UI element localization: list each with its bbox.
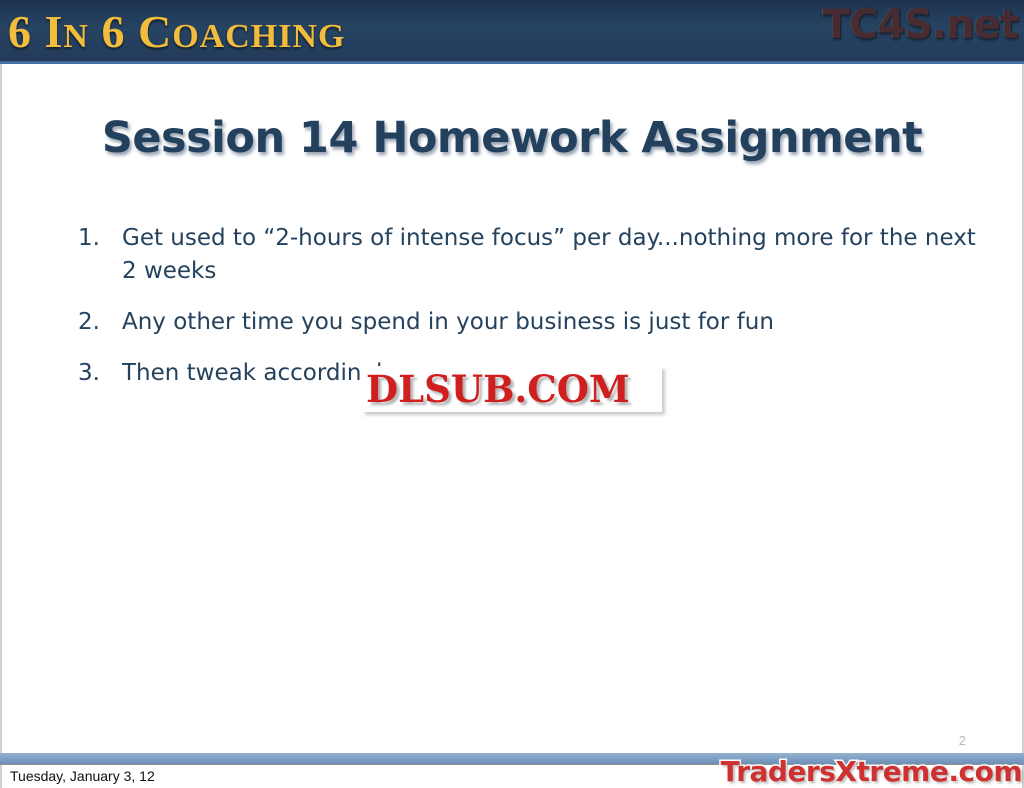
list-item-number: 2. — [78, 306, 122, 339]
list-item-number: 3. — [78, 357, 122, 390]
site-logo: TC4S.net — [823, 2, 1018, 48]
slide-canvas: 6 IN 6 COACHING TC4S.net Session 14 Home… — [0, 0, 1024, 788]
brand-title-part-4: OACHING — [172, 18, 345, 55]
footer-date: Tuesday, January 3, 12 — [10, 767, 155, 785]
brand-title: 6 IN 6 COACHING — [8, 6, 345, 63]
watermark-tradersxtreme: TradersXtreme.com — [721, 756, 1022, 788]
brand-title-part-3: 6 C — [89, 6, 172, 57]
brand-title-part-2: N — [63, 18, 89, 55]
page-number: 2 — [959, 733, 966, 749]
brand-title-part-1: 6 I — [8, 6, 63, 57]
page-title: Session 14 Homework Assignment — [0, 112, 1024, 164]
content-frame — [0, 64, 1024, 788]
watermark-dlsub: DLSUB.COM — [366, 368, 630, 410]
list-item: 2. Any other time you spend in your busi… — [78, 306, 976, 339]
header-band: 6 IN 6 COACHING TC4S.net — [0, 0, 1024, 64]
list-item: 1. Get used to “2-hours of intense focus… — [78, 222, 976, 288]
list-item-number: 1. — [78, 222, 122, 255]
list-item-text: Any other time you spend in your busines… — [122, 306, 976, 339]
list-item-text: Get used to “2-hours of intense focus” p… — [122, 222, 976, 288]
